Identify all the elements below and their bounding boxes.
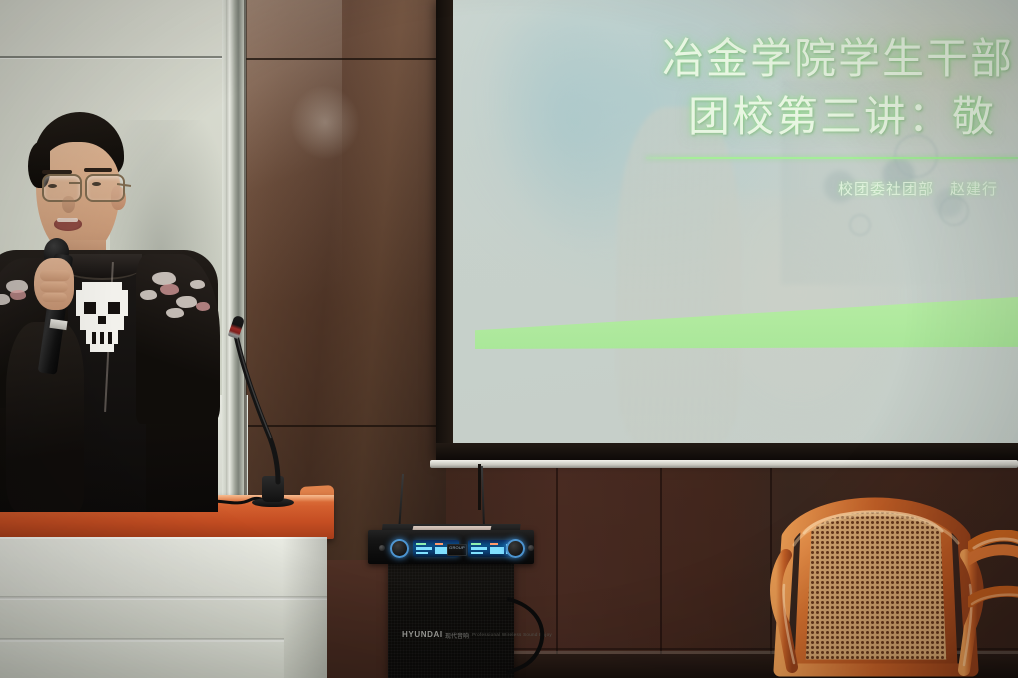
speaker-brand-cn-label: 现代音响: [445, 631, 469, 640]
jacket-floral-motif: [152, 272, 176, 285]
hyundai-speaker: HYUNDAI 现代音响 Professional Wireless Sound…: [388, 563, 514, 678]
person-collar: [62, 254, 142, 280]
person-shoulder-right: [136, 254, 220, 424]
receiver-mini-display-text: GROUP: [448, 546, 466, 550]
receiver-power-button[interactable]: [379, 545, 385, 551]
person-finger: [40, 282, 68, 292]
jacket-floral-motif: [140, 290, 157, 300]
jacket-floral-motif: [10, 290, 26, 300]
stone-specular-highlight: [285, 80, 365, 164]
wood-seam-2: [660, 462, 662, 657]
podium-side-shadow: [282, 537, 327, 678]
speaker-brand-label: HYUNDAI: [402, 630, 443, 639]
speaker-cable: [505, 595, 565, 675]
person-finger: [40, 270, 70, 281]
bentwood-chair-secondary: [968, 530, 1018, 678]
screen-frame-left-border: [436, 0, 453, 458]
person-nose: [62, 196, 75, 213]
screen-weight-bar: [430, 460, 1018, 468]
lecture-hall-scene: 冶金学院学生干部 团校第三讲：敬 校团委社团部 赵建行: [0, 0, 1018, 678]
speaker-grille: [388, 563, 514, 678]
podium-front-panel: [0, 640, 284, 678]
slide-subtitle: 校团委社团部 赵建行: [453, 178, 998, 199]
jacket-floral-motif: [166, 308, 184, 318]
glasses-bridge: [69, 182, 81, 184]
bentwood-chair: [770, 485, 985, 678]
jacket-floral-motif: [176, 296, 197, 308]
person-glasses: [30, 172, 130, 200]
receiver-mini-display: GROUP: [447, 544, 467, 556]
receiver-knob-right[interactable]: [506, 539, 525, 558]
tshirt-pixel-skull: [76, 282, 128, 356]
person-teeth: [57, 218, 78, 222]
jacket-floral-motif: [160, 284, 179, 295]
wall-seam-highlight: [0, 58, 232, 59]
projection-screen-surface: 冶金学院学生干部 团校第三讲：敬 校团委社团部 赵建行: [453, 0, 1018, 445]
stone-seam-upper: [246, 58, 446, 60]
slide-title-line2: 团校第三讲：敬: [614, 88, 996, 146]
glasses-lens-left: [42, 174, 82, 202]
receiver-aux-button[interactable]: [528, 545, 534, 551]
slide-title-line1: 冶金学院学生干部: [614, 30, 1014, 88]
jacket-floral-motif: [196, 302, 210, 311]
slide-divider-rule: [646, 157, 1018, 159]
slide-title: 冶金学院学生干部 团校第三讲：敬: [614, 30, 1014, 146]
person-finger: [42, 293, 67, 302]
podium-groove-1: [0, 596, 327, 600]
jacket-floral-motif: [190, 280, 205, 289]
gooseneck-mic-neck: [228, 330, 284, 480]
screen-frame-bottom-border: [436, 443, 1018, 460]
speaker-person: [0, 112, 232, 512]
receiver-knob-left[interactable]: [390, 539, 409, 558]
glasses-lens-right: [85, 174, 125, 202]
